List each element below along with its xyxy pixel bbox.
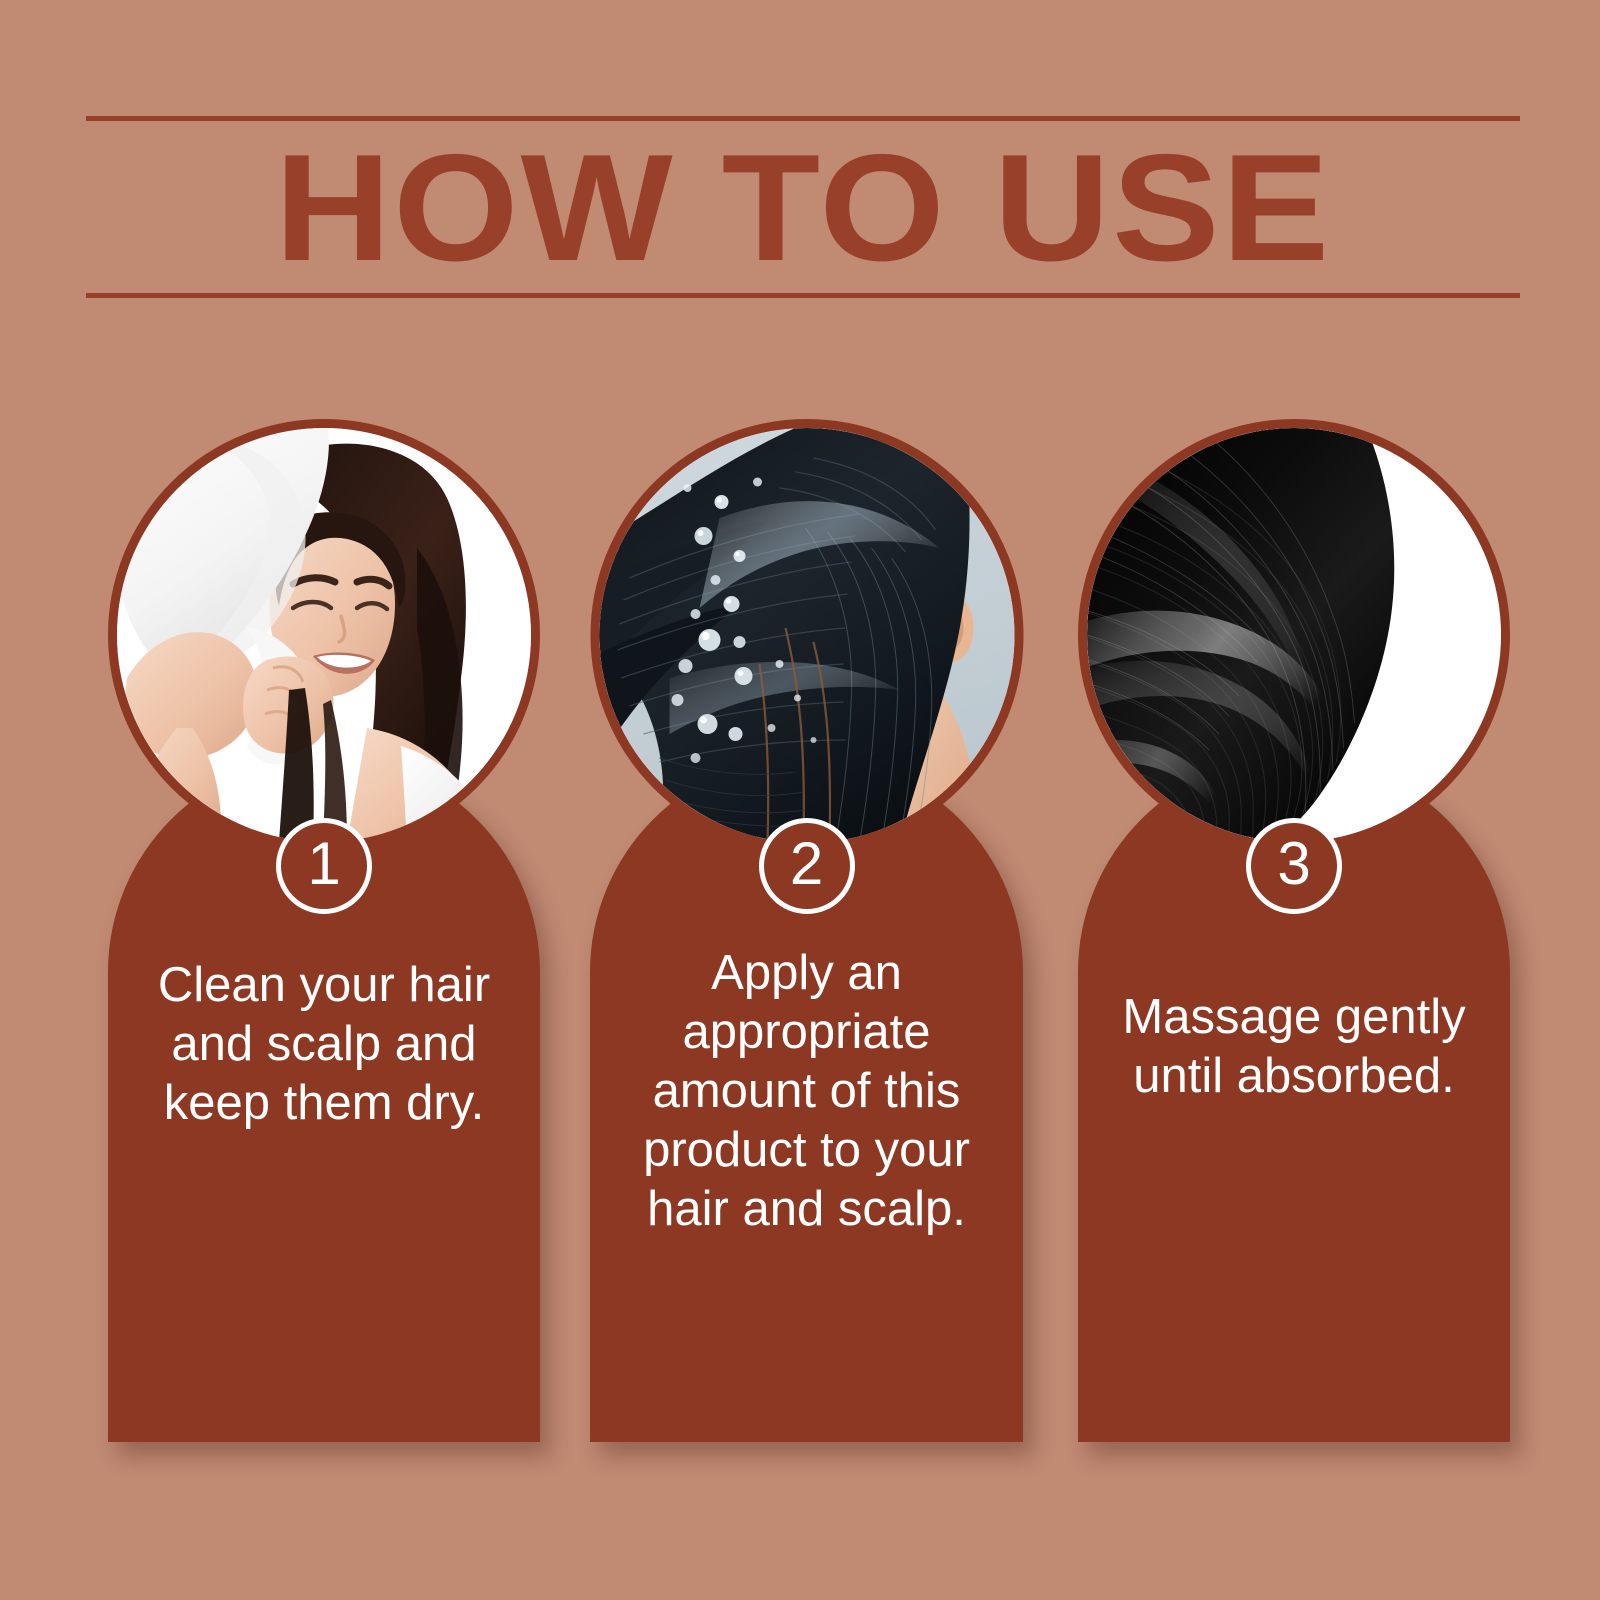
wet-hair-with-water-droplets-photo	[599, 428, 1014, 843]
step-2-photo-circle	[590, 419, 1023, 852]
step-number-badge-1: 1	[276, 818, 372, 914]
step-card-2: 2 Apply an appropriate amount of this pr…	[590, 756, 1023, 1442]
step-number-1: 1	[307, 834, 340, 894]
steps-container: 1 Clean your hair and scalp and keep the…	[0, 0, 1600, 1600]
step-number-badge-3: 3	[1246, 818, 1342, 914]
glossy-black-hair-closeup-photo	[1087, 428, 1501, 842]
step-1-photo-art	[117, 428, 531, 842]
step-3-photo-art	[1087, 428, 1501, 842]
step-number-badge-2: 2	[759, 818, 855, 914]
woman-drying-hair-with-towel-photo	[117, 428, 531, 842]
step-caption-1: Clean your hair and scalp and keep them …	[108, 956, 540, 1133]
step-3-photo-circle	[1078, 419, 1510, 851]
step-caption-2: Apply an appropriate amount of this prod…	[590, 944, 1023, 1239]
step-number-3: 3	[1277, 834, 1310, 894]
step-2-photo-art	[599, 428, 1014, 843]
step-caption-3: Massage gently until absorbed.	[1078, 988, 1510, 1106]
step-card-3: 3 Massage gently until absorbed.	[1078, 756, 1510, 1442]
step-number-2: 2	[790, 834, 823, 894]
step-1-photo-circle	[108, 419, 540, 851]
step-card-1: 1 Clean your hair and scalp and keep the…	[108, 756, 540, 1442]
